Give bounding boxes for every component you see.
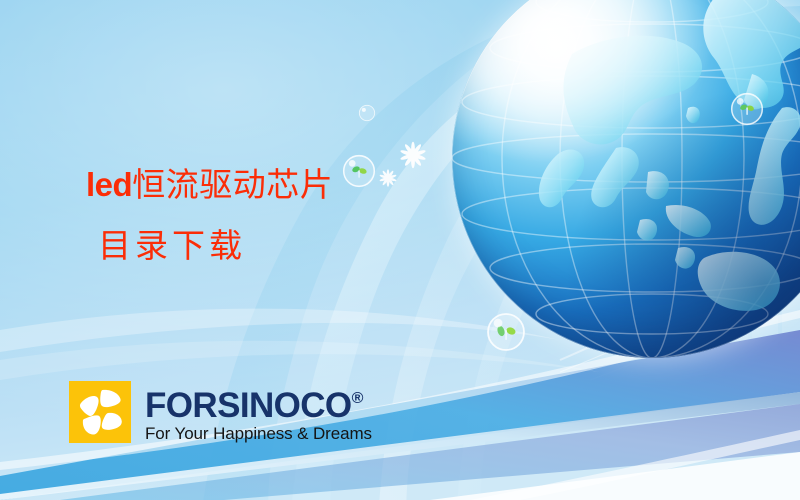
logo-tagline: For Your Happiness & Dreams [145,424,372,444]
headline-latin: led [86,166,132,203]
bubble-leaf-icon [486,312,526,352]
headline-line-2: 目录下载 [98,231,246,264]
bubble-top-right-icon [730,92,764,126]
headline-line-1: led恒流驱动芯片 [86,168,333,203]
headline-cjk: 恒流驱动芯片 [132,168,333,204]
logo-wordmark-text: FORSINOCO [145,386,352,425]
promo-banner: led恒流驱动芯片 目录下载 FORSINOCO® For Your Happi… [0,0,800,500]
world-globe [452,0,800,358]
sparkle-icon [398,140,428,170]
globe-sphere [452,0,800,358]
forsinoco-petal-mark-icon [69,381,131,443]
petal-glyph-icon [69,381,131,443]
bubble-icon [342,154,376,188]
sparkle-small-icon [378,168,398,188]
globe-shadow [452,0,800,358]
company-logo: FORSINOCO® For Your Happiness & Dreams [69,381,372,444]
bubble-small-icon [358,104,376,122]
registered-mark: ® [352,390,364,407]
logo-wordmark: FORSINOCO® [145,381,372,424]
logo-text-block: FORSINOCO® For Your Happiness & Dreams [145,381,372,444]
